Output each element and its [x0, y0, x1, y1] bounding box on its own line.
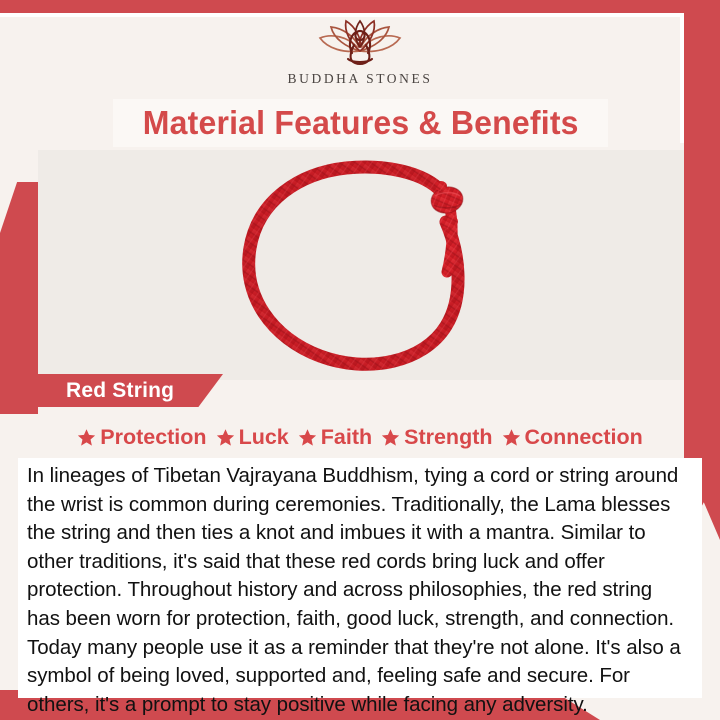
title-banner: Material Features & Benefits — [113, 99, 608, 147]
product-image-panel — [38, 150, 684, 380]
red-braided-cord-bracelet-icon — [228, 156, 494, 374]
benefit-item: Protection — [77, 425, 206, 450]
benefit-label: Strength — [404, 425, 492, 450]
product-name-label: Red String — [66, 379, 174, 403]
star-icon — [381, 428, 400, 447]
benefit-label: Protection — [100, 425, 206, 450]
benefit-item: Connection — [502, 425, 643, 450]
benefit-label: Luck — [239, 425, 289, 450]
star-icon — [216, 428, 235, 447]
star-icon — [298, 428, 317, 447]
infographic-page: BUDDHA STONES Material Features & Benefi… — [0, 0, 720, 720]
benefit-label: Connection — [525, 425, 643, 450]
description-text: In lineages of Tibetan Vajrayana Buddhis… — [27, 462, 688, 719]
benefit-label: Faith — [321, 425, 372, 450]
star-icon — [502, 428, 521, 447]
star-icon — [77, 428, 96, 447]
description-panel: In lineages of Tibetan Vajrayana Buddhis… — [18, 458, 702, 698]
benefit-item: Luck — [216, 425, 289, 450]
product-name-ribbon: Red String — [18, 374, 223, 407]
brand-name: BUDDHA STONES — [288, 71, 433, 87]
lotus-meditation-icon — [304, 17, 416, 69]
benefits-row: Protection Luck Faith Strength Connectio… — [0, 420, 720, 454]
page-title: Material Features & Benefits — [143, 104, 579, 142]
benefit-item: Strength — [381, 425, 492, 450]
frame-top-border — [0, 0, 720, 13]
benefit-item: Faith — [298, 425, 372, 450]
brand-header: BUDDHA STONES — [0, 17, 720, 95]
